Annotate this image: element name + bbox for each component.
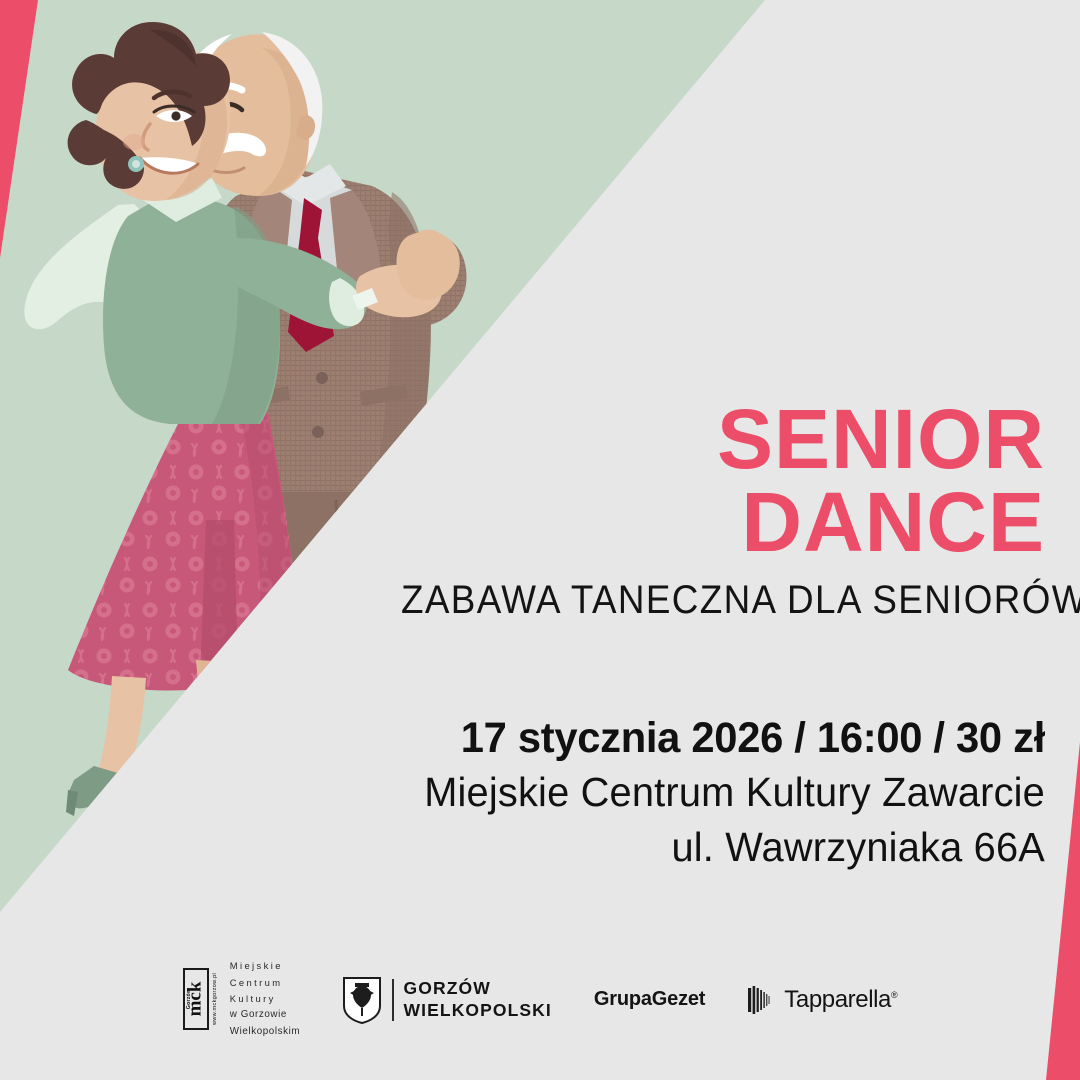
window-blind-icon <box>747 985 775 1015</box>
tapparella-text: Tapparella <box>784 986 891 1013</box>
mck-tiny-right: www.mckgorzow.pl <box>211 968 220 1030</box>
headline-line-1: SENIOR <box>345 398 1045 481</box>
mck-logo-mark: mck Gorzów www.mckgorzow.pl <box>183 968 219 1030</box>
mck-name-line-1: Miejskie <box>230 958 300 974</box>
event-address: ul. Wawrzyniaka 66A <box>308 822 1045 873</box>
mck-name-block: Miejskie Centrum Kultury w Gorzowie Wiel… <box>230 958 300 1040</box>
poster-canvas: SENIOR DANCE ZABAWA TANECZNA DLA SENIORÓ… <box>0 0 1080 1080</box>
woman-leg-back <box>192 660 232 782</box>
mck-tiny-left: Gorzów <box>185 968 192 1030</box>
mck-name-line-5: Wielkopolskim <box>230 1024 300 1041</box>
logo-divider <box>392 979 393 1021</box>
grupa-gezet-wordmark: GrupaGezet <box>594 988 705 1011</box>
coat-of-arms-icon <box>342 976 382 1024</box>
mck-name-line-4: w Gorzowie <box>230 1007 300 1024</box>
event-venue: Miejskie Centrum Kultury Zawarcie <box>308 767 1045 818</box>
sponsor-logo-bar: mck Gorzów www.mckgorzow.pl Miejskie Cen… <box>0 952 1080 1047</box>
tapparella-trademark: ® <box>891 990 897 1000</box>
woman-shoe-back <box>174 772 236 823</box>
headline-line-2: DANCE <box>345 481 1045 564</box>
gorzow-name-block: GORZÓW WIELKOPOLSKI <box>404 978 552 1021</box>
woman-shoe-front <box>68 766 128 808</box>
jacket-button <box>316 372 328 384</box>
logo-tapparella[interactable]: Tapparella® <box>747 985 897 1015</box>
logo-grupa-gezet[interactable]: GrupaGezet <box>594 988 705 1011</box>
skirt-pleat <box>200 520 238 678</box>
event-date-time-price: 17 stycznia 2026 / 16:00 / 30 zł <box>308 714 1045 763</box>
logo-mck[interactable]: mck Gorzów www.mckgorzow.pl Miejskie Cen… <box>183 958 300 1040</box>
event-details-block: 17 stycznia 2026 / 16:00 / 30 zł Miejski… <box>285 714 1045 874</box>
logo-gorzow-wielkopolski[interactable]: GORZÓW WIELKOPOLSKI <box>342 976 552 1024</box>
subtitle: ZABAWA TANECZNA DLA SENIORÓW <box>401 578 1045 623</box>
mck-name-line-2: Centrum <box>230 975 300 991</box>
mck-name-line-3: Kultury <box>230 991 300 1007</box>
headline-block: SENIOR DANCE ZABAWA TANECZNA DLA SENIORÓ… <box>345 398 1045 623</box>
mck-website-label: www.mckgorzow.pl <box>212 973 218 1025</box>
tapparella-wordmark: Tapparella® <box>784 986 897 1014</box>
gorzow-line-2: WIELKOPOLSKI <box>404 1000 552 1021</box>
mck-city-label: Gorzów <box>186 989 192 1009</box>
jacket-button <box>312 426 324 438</box>
gorzow-line-1: GORZÓW <box>404 978 552 999</box>
woman-leg-front <box>98 676 146 780</box>
